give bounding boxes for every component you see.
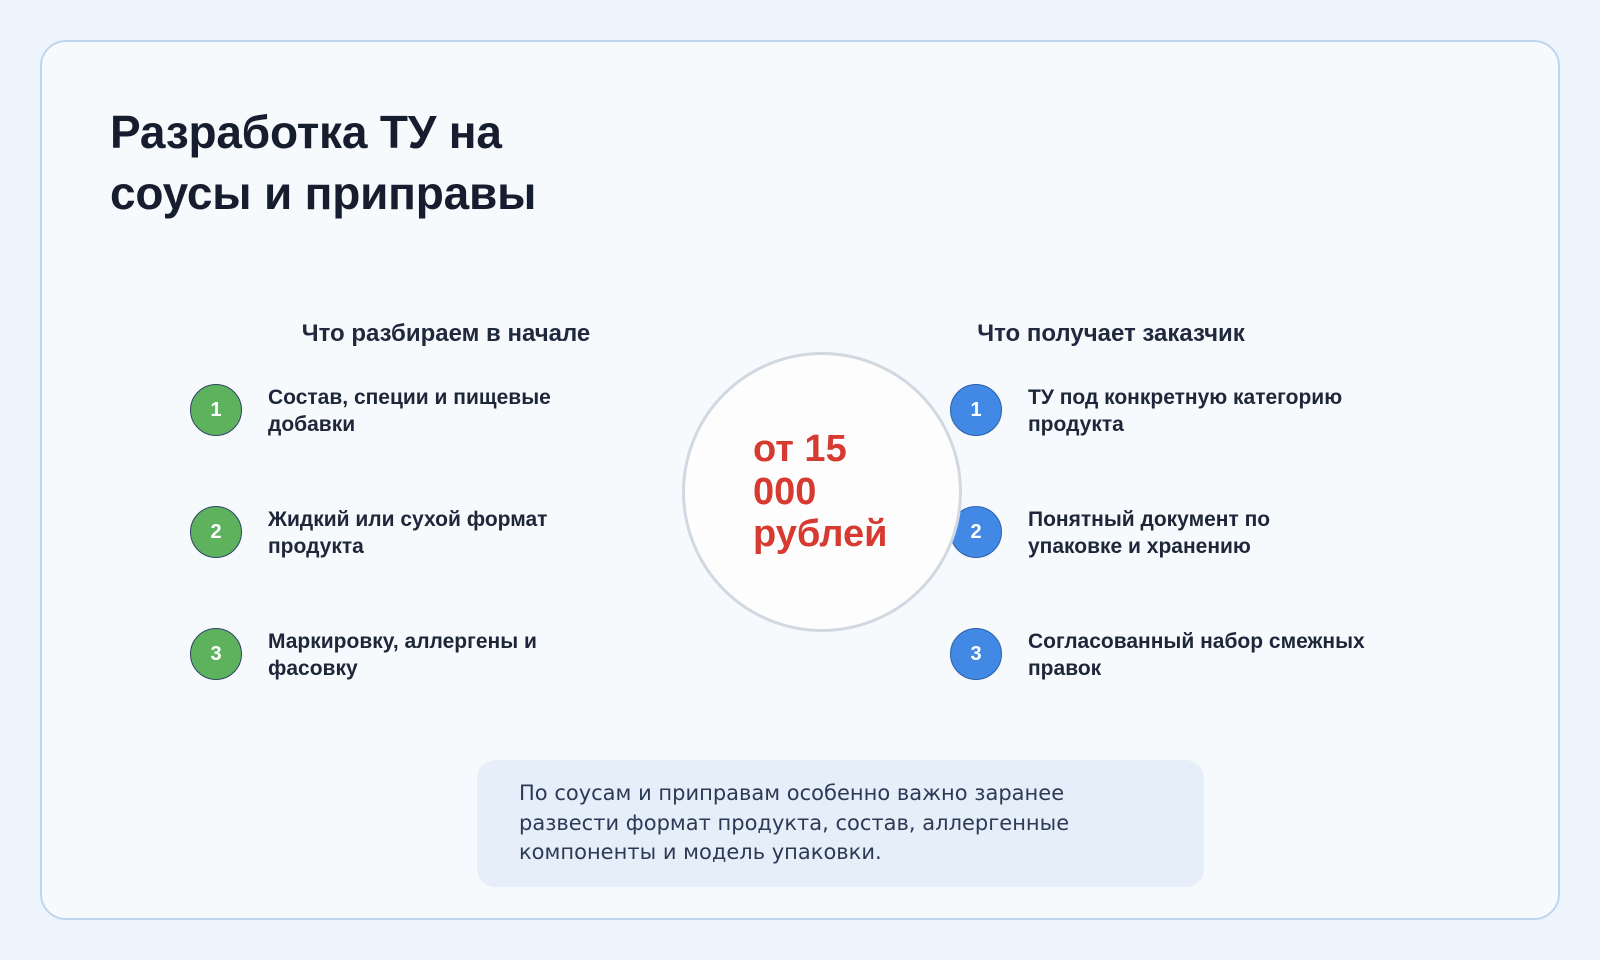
- infographic-stage: Разработка ТУ на соусы и приправы Что ра…: [0, 0, 1600, 960]
- list-item-label: ТУ под конкретную категорию продукта: [1028, 372, 1368, 439]
- list-item-label: Маркировку, аллергены и фасовку: [268, 616, 628, 683]
- list-item-label: Понятный документ по упаковке и хранению: [1028, 494, 1368, 561]
- step-badge-left-2: 2: [190, 506, 242, 558]
- list-item: 3 Согласованный набор смежных правок: [950, 616, 1370, 738]
- list-item-label: Согласованный набор смежных правок: [1028, 616, 1368, 683]
- price-circle: от 15 000 рублей: [682, 352, 962, 632]
- step-badge-right-3: 3: [950, 628, 1002, 680]
- price-label: от 15 000 рублей: [685, 428, 918, 556]
- list-item: 1 Состав, специи и пищевые добавки: [190, 372, 730, 494]
- list-item: 2 Жидкий или сухой формат продукта: [190, 494, 730, 616]
- left-column-heading: Что разбираем в начале: [190, 320, 702, 348]
- right-column-heading: Что получает заказчик: [914, 320, 1308, 348]
- step-badge-left-1: 1: [190, 384, 242, 436]
- content-card: Разработка ТУ на соусы и приправы Что ра…: [40, 40, 1560, 920]
- list-item-label: Состав, специи и пищевые добавки: [268, 372, 628, 439]
- list-item-label: Жидкий или сухой формат продукта: [268, 494, 628, 561]
- step-badge-right-1: 1: [950, 384, 1002, 436]
- left-column-items: 1 Состав, специи и пищевые добавки 2 Жид…: [190, 372, 730, 738]
- list-item: 1 ТУ под конкретную категорию продукта: [950, 372, 1370, 494]
- note-text: По соусам и приправам особенно важно зар…: [477, 779, 1204, 868]
- list-item: 3 Маркировку, аллергены и фасовку: [190, 616, 730, 738]
- right-column-items: 1 ТУ под конкретную категорию продукта 2…: [950, 372, 1370, 738]
- page-title: Разработка ТУ на соусы и приправы: [110, 102, 930, 223]
- list-item: 2 Понятный документ по упаковке и хранен…: [950, 494, 1370, 616]
- step-badge-left-3: 3: [190, 628, 242, 680]
- note-box: По соусам и приправам особенно важно зар…: [477, 760, 1204, 887]
